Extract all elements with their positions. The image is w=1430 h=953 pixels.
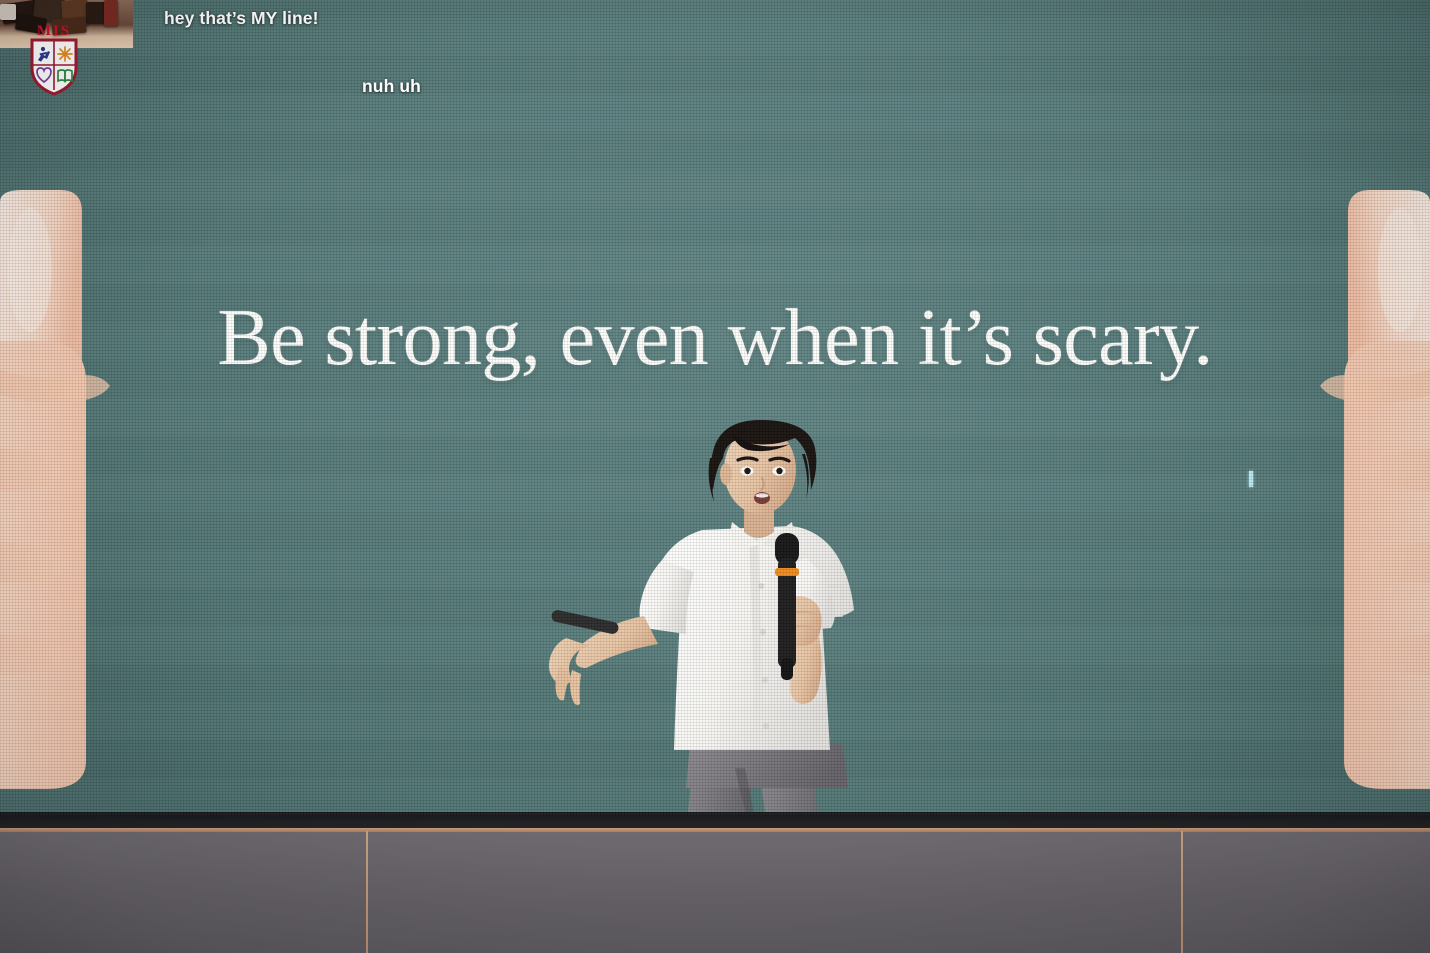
presentation-screenshot: Be strong, even when it’s scary. xyxy=(0,0,1430,953)
school-crest-logo: MIS xyxy=(24,20,84,96)
presentation-clicker-shape xyxy=(550,609,619,635)
slide-headline: Be strong, even when it’s scary. xyxy=(0,298,1430,378)
wall-trim-line xyxy=(0,828,1430,832)
stage-wall-panel xyxy=(0,831,1430,953)
caption-text-primary: hey that’s MY line! xyxy=(164,8,319,29)
caption-text-secondary: nuh uh xyxy=(362,76,421,97)
star-icon xyxy=(58,47,72,61)
thumbs-up-left-icon xyxy=(0,190,182,790)
text-cursor-tick xyxy=(1249,471,1253,487)
microphone-shape xyxy=(775,533,799,680)
svg-text:MIS: MIS xyxy=(37,23,71,39)
wall-panel-seam-left xyxy=(366,831,368,953)
wall-panel-seam-right xyxy=(1181,831,1183,953)
thumbs-up-right-icon xyxy=(1248,190,1430,790)
